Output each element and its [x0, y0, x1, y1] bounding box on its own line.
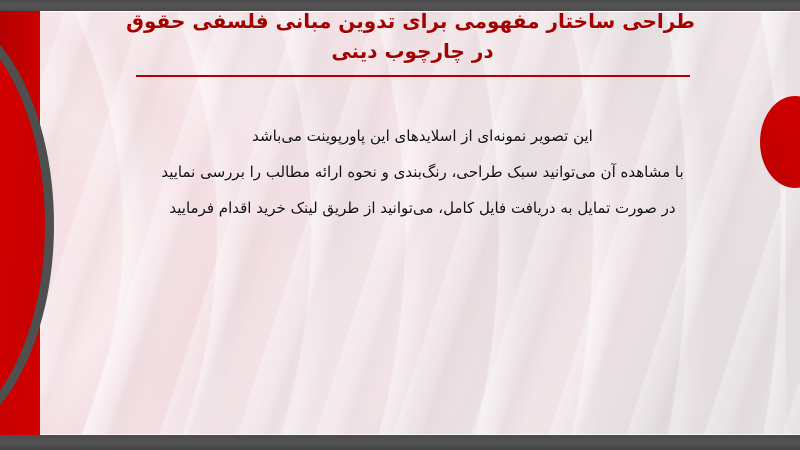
slide-title: طراحی ساختار مفهومی برای تدوین مبانی فلس…: [130, 6, 695, 66]
body-line-2: با مشاهده آن می‌توانید سبک طراحی، رنگ‌بن…: [110, 154, 735, 190]
slide-bottom-bar: [0, 435, 800, 450]
slide-top-bar: [0, 0, 800, 11]
presentation-slide: طراحی ساختار مفهومی برای تدوین مبانی فلس…: [0, 0, 800, 450]
slide-body-text: این تصویر نمونه‌ای از اسلایدهای این پاور…: [110, 118, 735, 226]
title-underline-rule: [136, 75, 690, 77]
body-line-3: در صورت تمایل به دریافت فایل کامل، می‌تو…: [110, 190, 735, 226]
slide-title-line-2: در چارچوب دینی: [130, 36, 695, 66]
body-line-1: این تصویر نمونه‌ای از اسلایدهای این پاور…: [110, 118, 735, 154]
